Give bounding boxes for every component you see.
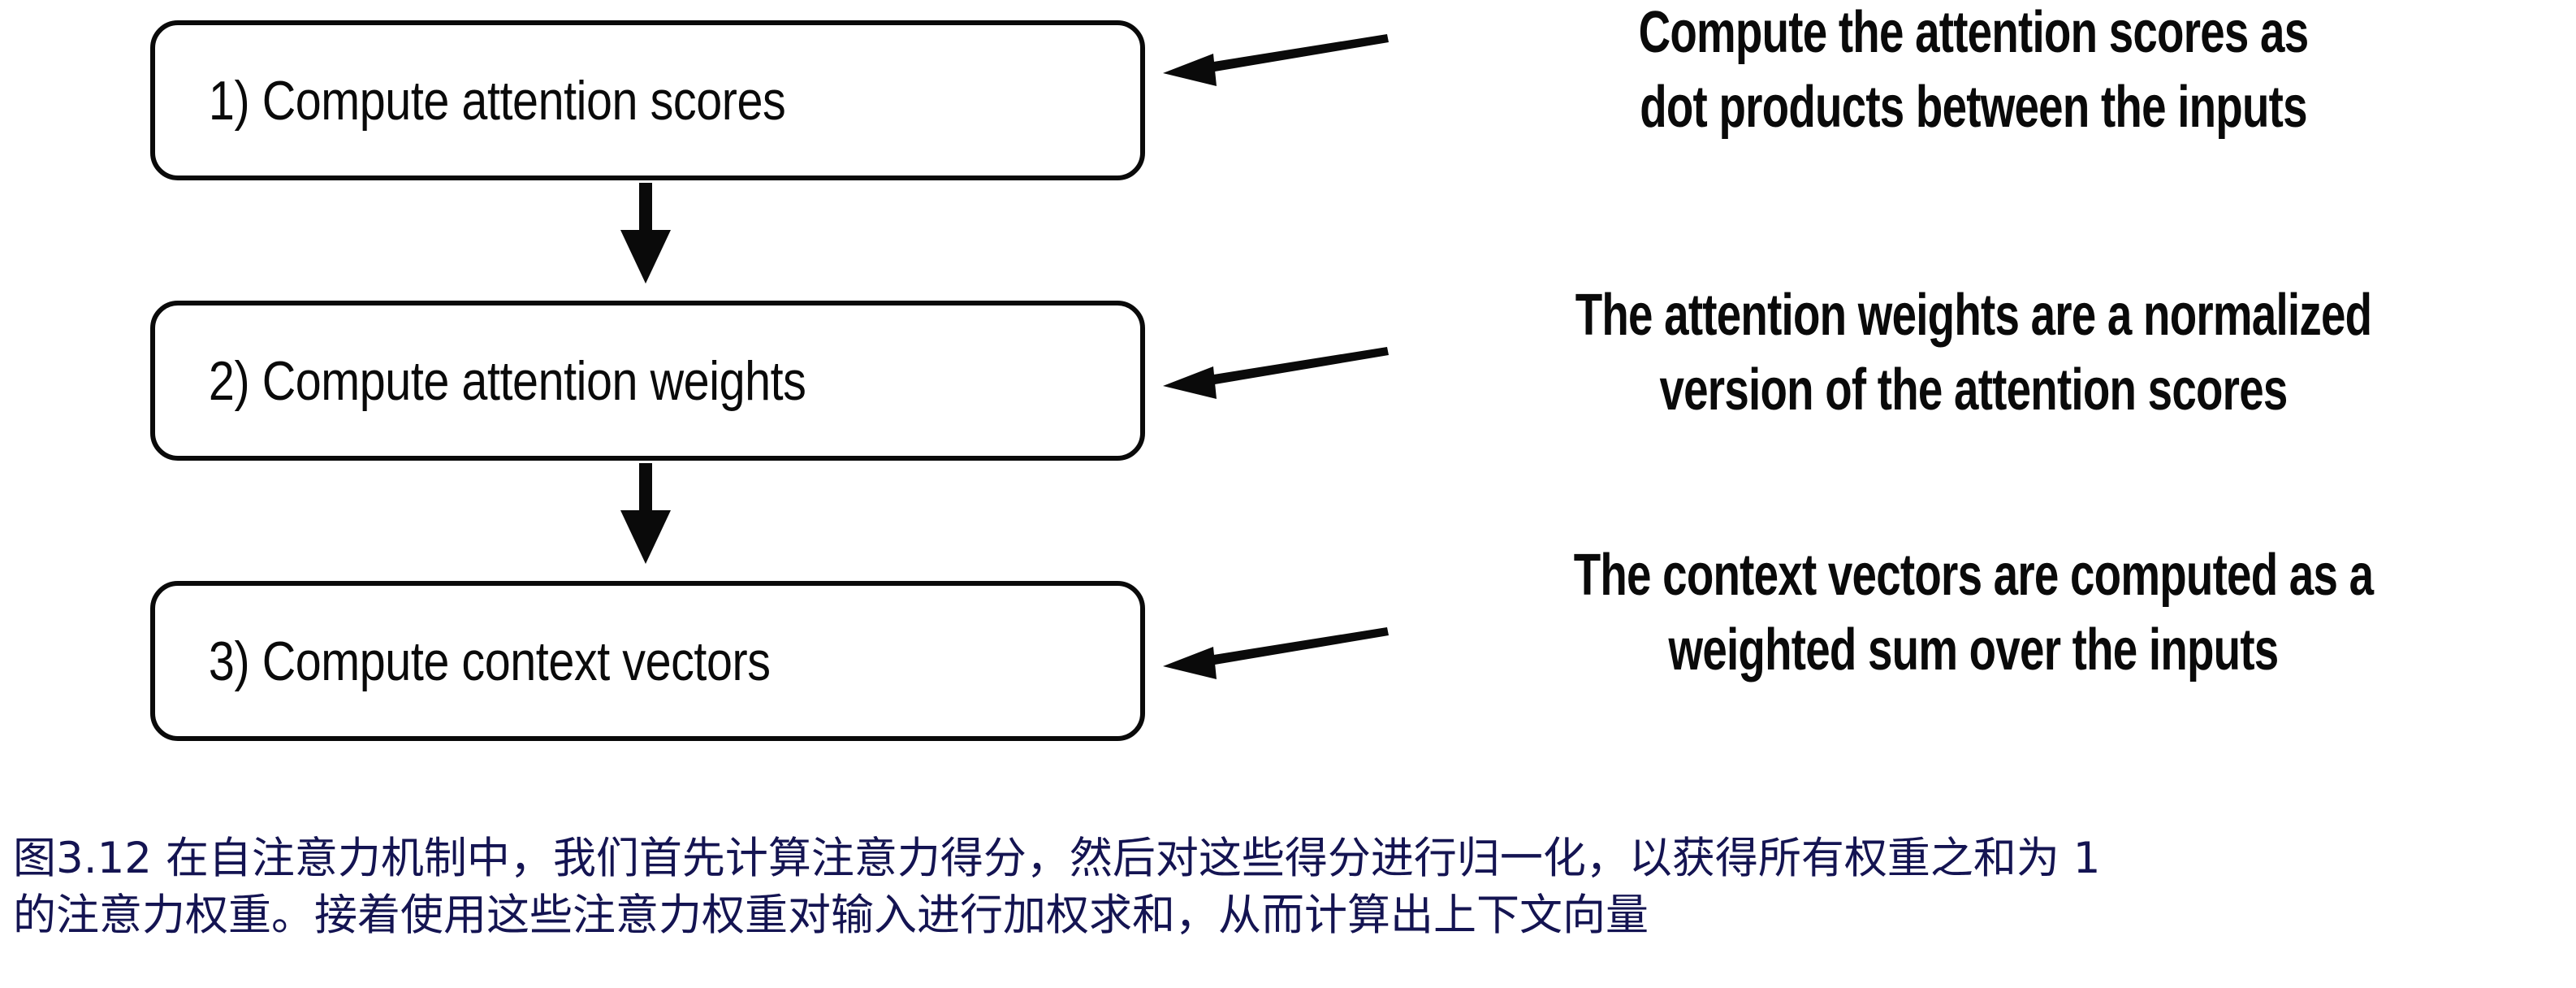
annotation-2-line-2: version of the attention scores	[1545, 361, 2402, 419]
annotation-text-2: The attention weights are a normalized v…	[1409, 286, 2538, 419]
caption-line-2: 的注意力权重。接着使用这些注意力权重对输入进行加权求和，从而计算出上下文向量	[13, 887, 2563, 944]
annotation-text-1: Compute the attention scores as dot prod…	[1409, 3, 2538, 136]
left-arrow-icon	[1163, 31, 1390, 96]
annotation-1-line-2: dot products between the inputs	[1545, 78, 2402, 136]
step-box-1: 1) Compute attention scores	[150, 20, 1145, 180]
step-box-3-label: 3) Compute context vectors	[155, 634, 771, 689]
annotation-text-3: The context vectors are computed as a we…	[1409, 546, 2538, 679]
down-arrow-icon	[617, 463, 674, 564]
figure-page: 1) Compute attention scores 2) Compute a…	[0, 0, 2576, 988]
down-arrow-icon	[617, 183, 674, 284]
figure-caption: 图3.12 在自注意力机制中，我们首先计算注意力得分，然后对这些得分进行归一化，…	[13, 830, 2563, 945]
step-box-2-label: 2) Compute attention weights	[155, 353, 806, 409]
annotation-3-line-1: The context vectors are computed as a	[1545, 546, 2402, 604]
left-arrow-icon	[1163, 344, 1390, 409]
step-box-3: 3) Compute context vectors	[150, 581, 1145, 741]
caption-line-1: 图3.12 在自注意力机制中，我们首先计算注意力得分，然后对这些得分进行归一化，…	[13, 830, 2563, 887]
left-arrow-icon	[1163, 624, 1390, 689]
annotation-2-line-1: The attention weights are a normalized	[1545, 286, 2402, 344]
step-box-2: 2) Compute attention weights	[150, 301, 1145, 461]
annotation-3-line-2: weighted sum over the inputs	[1545, 621, 2402, 679]
step-box-1-label: 1) Compute attention scores	[155, 73, 785, 128]
annotation-1-line-1: Compute the attention scores as	[1545, 3, 2402, 62]
